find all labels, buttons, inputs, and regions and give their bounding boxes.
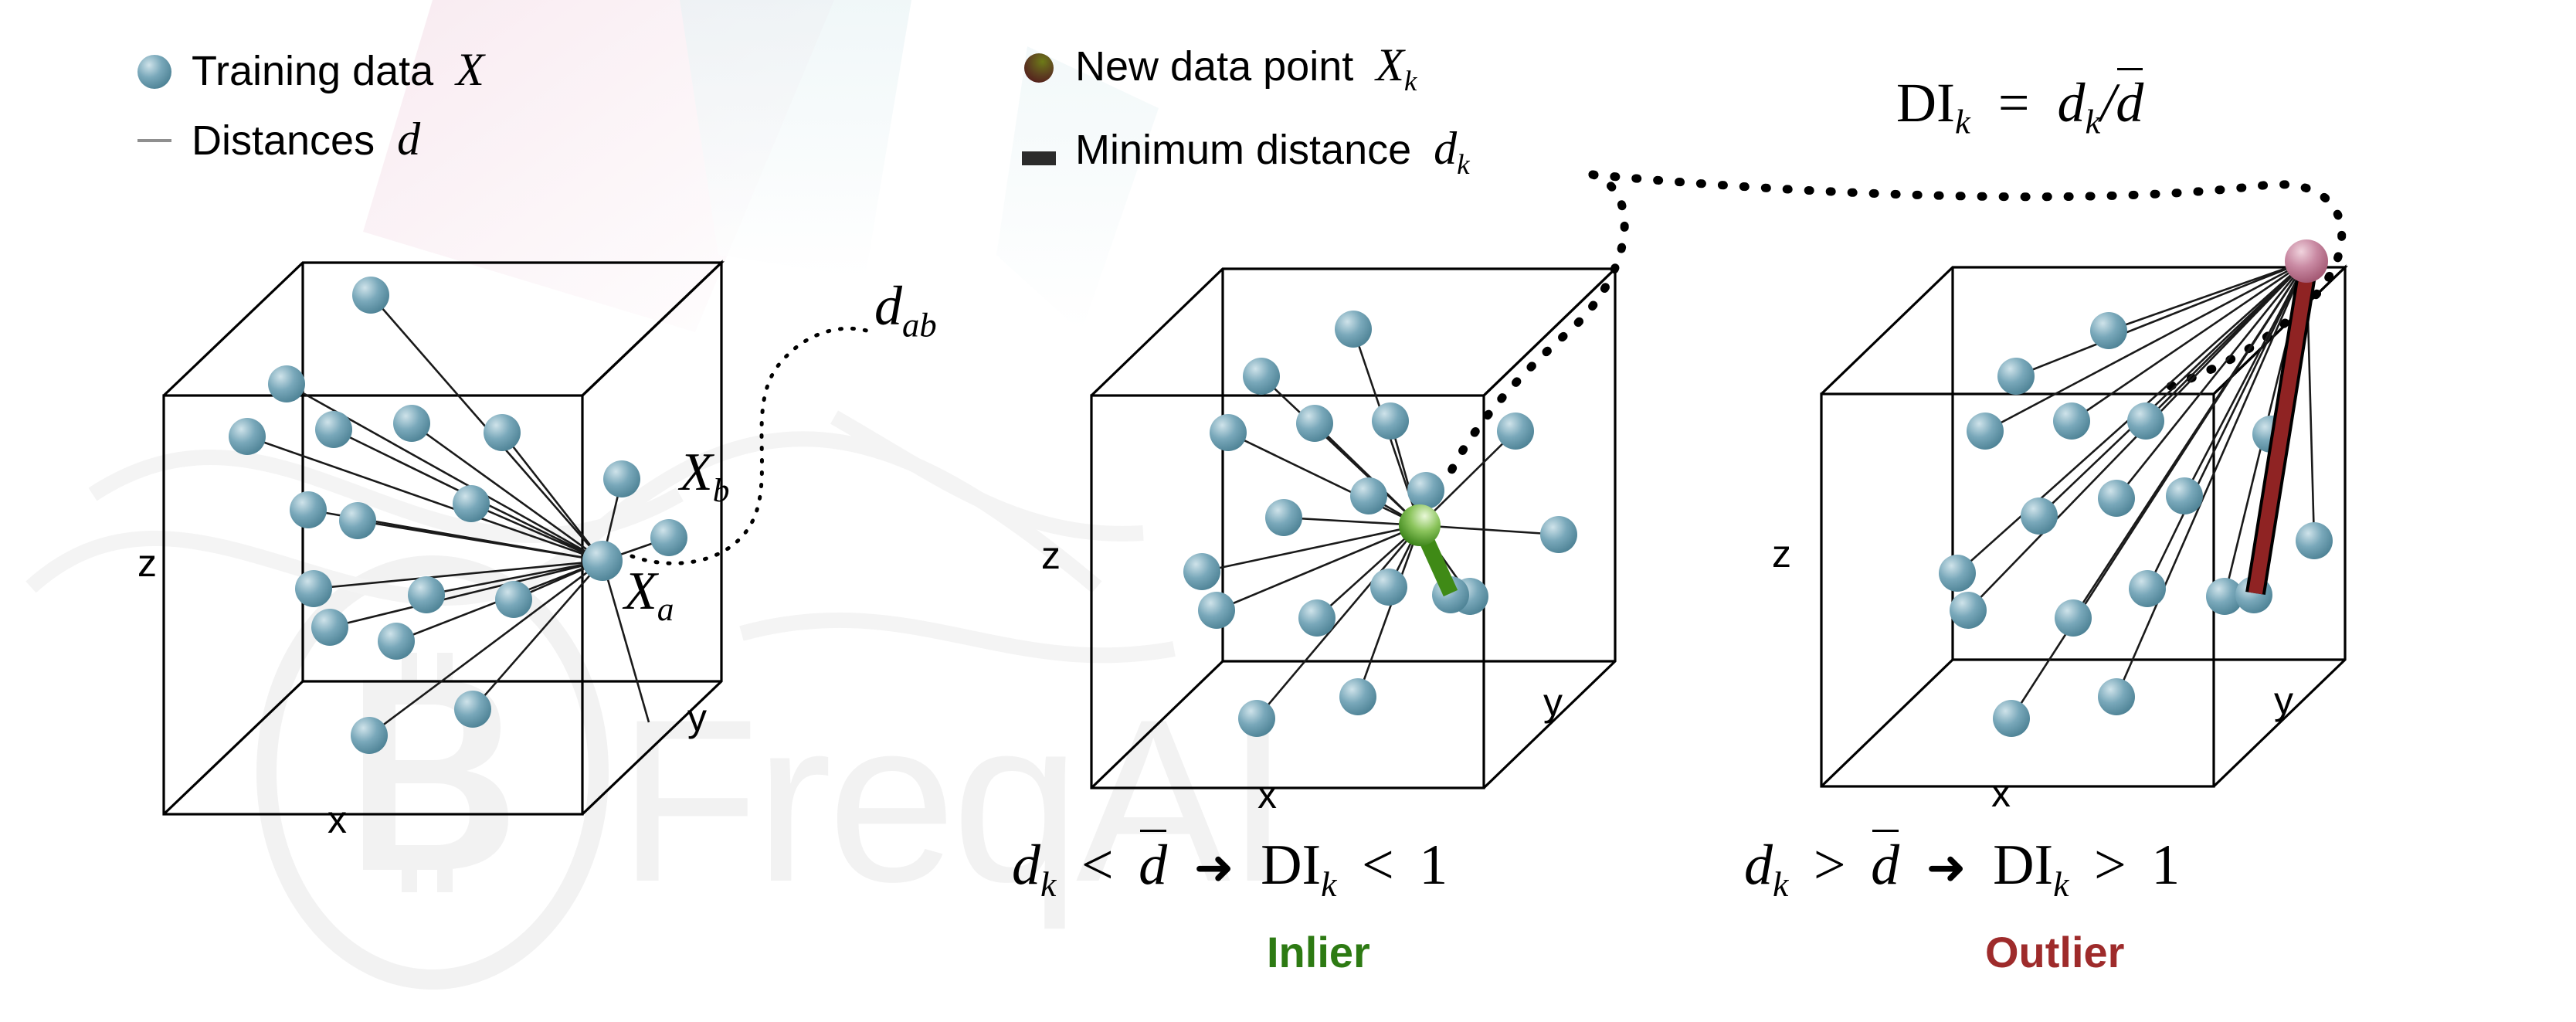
distance-lines-outlier — [1957, 261, 2314, 718]
formula-DI: DI — [1896, 72, 1955, 134]
legend-label-training-data: Training data — [192, 48, 433, 94]
legend-label-minimum-distance: Minimum distance — [1075, 127, 1411, 173]
axis-label-y-inlier: y — [1543, 680, 1563, 725]
formula-dbar: d — [2116, 71, 2143, 135]
legend-label-distances: Distances — [192, 117, 375, 164]
top-formula-di: DIk = dk/d — [1896, 71, 2143, 141]
formula-dk-num: d — [2057, 72, 2085, 134]
legend-item-training-data: Training data X — [192, 43, 484, 97]
caption-formula-inlier: dk < d ➜ DIk < 1 — [1012, 833, 1448, 905]
legend-symbol-d: d — [397, 114, 420, 165]
legend-symbol-X: X — [456, 44, 484, 95]
new-data-point-outlier — [2285, 239, 2328, 283]
arrow-icon-outlier: ➜ — [1926, 839, 1967, 895]
legend-item-minimum-distance: Minimum distance dk — [1075, 122, 1470, 182]
axis-label-z-inlier: z — [1041, 533, 1061, 578]
formula-dk-num-sub: k — [2085, 102, 2100, 141]
point-label-xb: Xb — [680, 442, 729, 510]
legend-item-distances: Distances d — [192, 113, 420, 166]
verdict-outlier: Outlier — [1985, 927, 2124, 977]
axis-label-z-outlier: z — [1772, 531, 1791, 576]
axis-label-x-inlier: x — [1257, 772, 1277, 817]
arrow-icon-inlier: ➜ — [1194, 839, 1234, 895]
figure-canvas: FreqAI — [0, 0, 2576, 1022]
legend-item-new-data-point: New data point Xk — [1075, 39, 1417, 98]
legend-label-new-data-point: New data point — [1075, 43, 1353, 90]
axis-label-y-outlier: y — [2274, 678, 2293, 723]
axis-label-x-training: x — [328, 797, 347, 842]
caption-formula-outlier: dk > d ➜ DIk > 1 — [1744, 833, 2180, 905]
callout-label-dab: dab — [874, 274, 937, 345]
legend-symbol-dk: dk — [1434, 123, 1470, 174]
axis-label-y-training: y — [687, 695, 707, 740]
verdict-inlier: Inlier — [1267, 927, 1370, 977]
formula-DI-sub: k — [1955, 102, 1970, 141]
axis-label-x-outlier: x — [1991, 771, 2011, 816]
axis-label-z-training: z — [137, 541, 157, 586]
formula-slash: / — [2100, 72, 2116, 134]
point-label-xa: Xa — [624, 561, 674, 629]
formula-equals: = — [1998, 72, 2030, 134]
legend-symbol-Xk: Xk — [1376, 39, 1417, 90]
